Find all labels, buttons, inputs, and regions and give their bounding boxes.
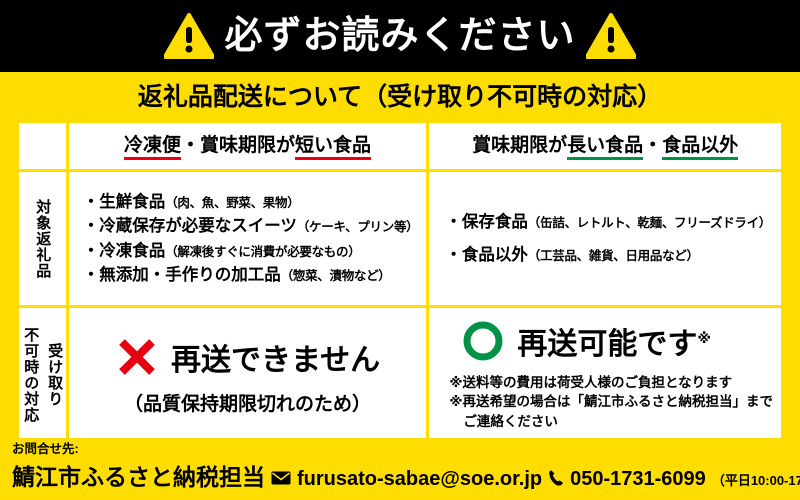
comparison-table: 冷凍便・賞味期限が短い食品 賞味期限が長い食品・食品以外 対象返礼品 [16, 120, 784, 435]
item-sub: （缶詰、レトルト、乾麺、フリーズドライ） [528, 216, 771, 230]
target-items-left-list: ・生鮮食品（肉、魚、野菜、果物） ・冷蔵保存が必要なスイーツ（ケーキ、プリン等）… [69, 184, 427, 292]
col-head-part: 食品以外 [662, 135, 738, 160]
col-head-part: 賞味期限が [472, 135, 567, 156]
note-line: ※再送希望の場合は「鯖江市ふるさと納税担当」まで [449, 392, 773, 411]
row-label-text-b: 不可時の対応 [22, 308, 40, 442]
warning-triangle-icon [586, 13, 636, 59]
item-sub: （解凍後すぐに消費が必要なもの） [165, 245, 360, 259]
response-notes: ※送料等の費用は荷受人様のご負担となります ※再送希望の場合は「鯖江市ふるさと納… [443, 373, 773, 430]
item-main: ・冷蔵保存が必要なスイーツ [83, 217, 297, 235]
column-header-short-shelf-life: 冷凍便・賞味期限が短い食品 [69, 123, 427, 169]
list-item: ・無添加・手作りの加工品（惣菜、漬物など） [83, 263, 419, 287]
list-item: ・冷凍食品（解凍後すぐに消費が必要なもの） [83, 239, 419, 263]
circle-mark-icon [461, 319, 505, 363]
list-item: ・保存食品（缶詰、レトルト、乾麺、フリーズドライ） [445, 206, 773, 239]
footer-email[interactable]: furusato-sabae@soe.or.jp [297, 468, 542, 491]
envelope-icon [271, 470, 291, 486]
item-sub: （惣菜、漬物など） [281, 269, 391, 283]
item-main: ・保存食品 [445, 213, 528, 231]
col-head-part: 長い食品 [567, 135, 643, 160]
target-items-left-cell: ・生鮮食品（肉、魚、野菜、果物） ・冷蔵保存が必要なスイーツ（ケーキ、プリン等）… [69, 172, 427, 305]
item-sub: （ケーキ、プリン等） [297, 220, 419, 234]
item-main: ・冷凍食品 [83, 242, 166, 260]
response-headline-right-text: 再送可能です [517, 328, 697, 361]
table-row-response: 受け取り 不可時の対応 再送できません （品質保持期限切れのため [19, 308, 781, 442]
header-corner-cell [19, 123, 66, 169]
subtitle-band: 返礼品配送について（受け取り不可時の対応） [0, 72, 800, 118]
response-left-cell: 再送できません （品質保持期限切れのため） [69, 308, 427, 442]
x-mark-icon [115, 335, 159, 379]
col-head-part: 冷凍便 [124, 135, 181, 160]
item-main: ・無添加・手作りの加工品 [83, 266, 281, 284]
response-headline-right: 再送可能です※ [517, 319, 711, 363]
note-line: ※送料等の費用は荷受人様のご負担となります [449, 373, 773, 392]
list-item: ・食品以外（工芸品、雑貨、日用品など） [445, 239, 773, 272]
asterisk-mark: ※ [697, 330, 711, 346]
footer-phone[interactable]: 050-1731-6099 [570, 468, 706, 491]
row-label-target-items: 対象返礼品 [19, 172, 66, 305]
list-item: ・冷蔵保存が必要なスイーツ（ケーキ、プリン等） [83, 214, 419, 238]
note-line: ご連絡ください [449, 412, 773, 431]
row-label-text-a: 受け取り [45, 308, 63, 442]
column-header-long-shelf-life: 賞味期限が長い食品・食品以外 [429, 123, 781, 169]
footer-organization: 鯖江市ふるさと納税担当 [12, 458, 265, 492]
item-main: ・生鮮食品 [83, 193, 166, 211]
table-header-row: 冷凍便・賞味期限が短い食品 賞味期限が長い食品・食品以外 [19, 123, 781, 169]
subtitle-text: 返礼品配送について（受け取り不可時の対応） [138, 77, 662, 113]
col-head-part: ・賞味期限が [181, 135, 295, 156]
response-headline-left: 再送できません [171, 335, 380, 379]
table-row-target-items: 対象返礼品 ・生鮮食品（肉、魚、野菜、果物） ・冷蔵保存が必要なスイーツ（ケーキ… [19, 172, 781, 305]
header-bar: 必ずお読みください [0, 0, 800, 72]
target-items-right-cell: ・保存食品（缶詰、レトルト、乾麺、フリーズドライ） ・食品以外（工芸品、雑貨、日… [429, 172, 781, 305]
infographic-page: 必ずお読みください 返礼品配送について（受け取り不可時の対応） 冷凍便・賞味期限… [0, 0, 800, 500]
footer-contact: お問合せ先: 鯖江市ふるさと納税担当 furusato-sabae@soe.or… [0, 438, 800, 500]
page-title: 必ずお読みください [224, 17, 575, 55]
item-sub: （肉、魚、野菜、果物） [165, 196, 299, 210]
list-item: ・生鮮食品（肉、魚、野菜、果物） [83, 190, 419, 214]
response-right-cell: 再送可能です※ ※送料等の費用は荷受人様のご負担となります ※再送希望の場合は「… [429, 308, 781, 442]
response-subline-left: （品質保持期限切れのため） [79, 389, 417, 416]
item-sub: （工芸品、雑貨、日用品など） [528, 249, 699, 263]
warning-triangle-icon [164, 13, 214, 59]
row-label-response: 受け取り 不可時の対応 [19, 308, 66, 442]
row-label-text: 対象返礼品 [34, 172, 52, 305]
target-items-right-list: ・保存食品（缶詰、レトルト、乾麺、フリーズドライ） ・食品以外（工芸品、雑貨、日… [429, 200, 781, 278]
col-head-part: 短い食品 [295, 135, 371, 160]
footer-label: お問合せ先: [12, 442, 788, 457]
col-head-part: ・ [643, 135, 662, 156]
item-main: ・食品以外 [445, 246, 528, 264]
footer-hours: （平日10:00-17:00対応） [712, 470, 800, 489]
phone-icon [548, 469, 564, 487]
